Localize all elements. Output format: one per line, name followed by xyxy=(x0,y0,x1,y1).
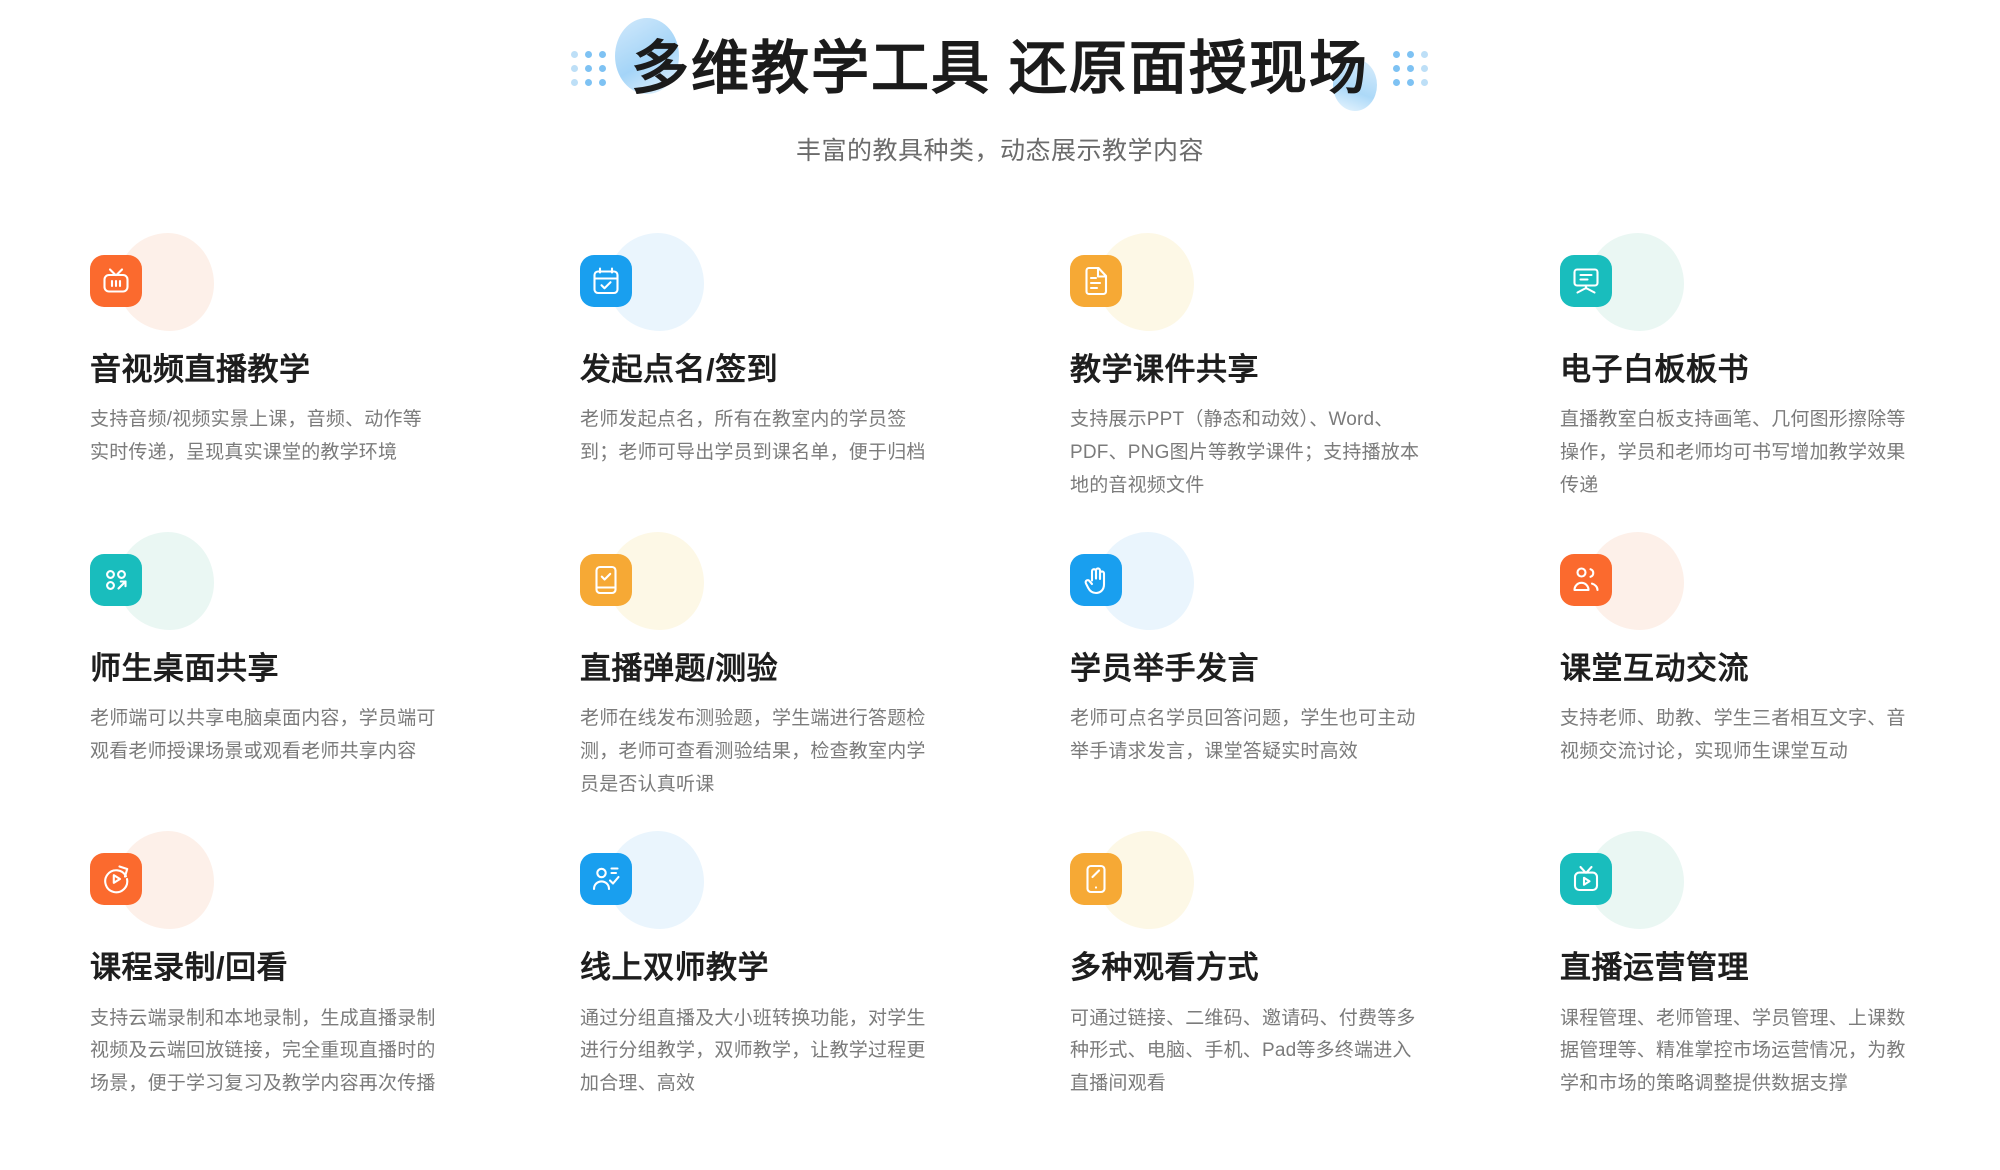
feature-icon-zone xyxy=(1070,554,1450,634)
feature-title: 直播弹题/测验 xyxy=(580,650,960,687)
people-group-icon xyxy=(1560,554,1612,606)
quiz-tablet-icon xyxy=(580,554,632,606)
feature-card[interactable]: 线上双师教学通过分组直播及大小班转换功能，对学生进行分组教学，双师教学，让教学过… xyxy=(580,853,960,1100)
tv-broadcast-icon xyxy=(90,255,142,307)
feature-description: 支持云端录制和本地录制，生成直播录制视频及云端回放链接，完全重现直播时的场景，便… xyxy=(90,1003,440,1101)
feature-title: 音视频直播教学 xyxy=(90,351,470,388)
feature-title: 教学课件共享 xyxy=(1070,351,1450,388)
feature-grid: 音视频直播教学支持音频/视频实景上课，音频、动作等实时传递，呈现真实课堂的教学环… xyxy=(90,255,1920,1101)
feature-title: 直播运营管理 xyxy=(1560,949,1940,986)
feature-title: 发起点名/签到 xyxy=(580,351,960,388)
feature-icon-zone xyxy=(1560,255,1940,335)
decorative-dots-right xyxy=(1393,51,1429,87)
feature-icon-zone xyxy=(1560,853,1940,933)
feature-description: 直播教室白板支持画笔、几何图形擦除等操作，学员和老师均可书写增加教学效果传递 xyxy=(1560,404,1910,502)
feature-icon-zone xyxy=(90,853,470,933)
feature-title: 线上双师教学 xyxy=(580,949,960,986)
feature-icon-zone xyxy=(90,554,470,634)
feature-description: 老师端可以共享电脑桌面内容，学员端可观看老师授课场景或观看老师共享内容 xyxy=(90,703,440,768)
feature-title: 学员举手发言 xyxy=(1070,650,1450,687)
feature-card[interactable]: 课程录制/回看支持云端录制和本地录制，生成直播录制视频及云端回放链接，完全重现直… xyxy=(90,853,470,1100)
feature-description: 支持老师、助教、学生三者相互文字、音视频交流讨论，实现师生课堂互动 xyxy=(1560,703,1910,768)
feature-description: 老师在线发布测验题，学生端进行答题检测，老师可查看测验结果，检查教室内学员是否认… xyxy=(580,703,930,801)
feature-card[interactable]: 学员举手发言老师可点名学员回答问题，学生也可主动举手请求发言，课堂答疑实时高效 xyxy=(1070,554,1450,801)
decorative-dots-left xyxy=(571,51,607,87)
feature-title: 多种观看方式 xyxy=(1070,949,1450,986)
feature-title: 课堂互动交流 xyxy=(1560,650,1940,687)
document-lines-icon xyxy=(1070,255,1122,307)
feature-description: 老师可点名学员回答问题，学生也可主动举手请求发言，课堂答疑实时高效 xyxy=(1070,703,1420,768)
mobile-device-icon xyxy=(1070,853,1122,905)
live-tv-icon xyxy=(1560,853,1612,905)
page-subtitle: 丰富的教具种类，动态展示教学内容 xyxy=(0,131,2000,167)
feature-icon-zone xyxy=(580,853,960,933)
feature-title: 师生桌面共享 xyxy=(90,650,470,687)
feature-icon-zone xyxy=(1070,853,1450,933)
screen-share-icon xyxy=(90,554,142,606)
raise-hand-icon xyxy=(1070,554,1122,606)
feature-card[interactable]: 课堂互动交流支持老师、助教、学生三者相互文字、音视频交流讨论，实现师生课堂互动 xyxy=(1560,554,1940,801)
page-title: 多维教学工具 还原面授现场 xyxy=(631,34,1369,105)
feature-card[interactable]: 师生桌面共享老师端可以共享电脑桌面内容，学员端可观看老师授课场景或观看老师共享内… xyxy=(90,554,470,801)
dual-teacher-icon xyxy=(580,853,632,905)
feature-icon-zone xyxy=(1070,255,1450,335)
calendar-check-icon xyxy=(580,255,632,307)
feature-description: 支持音频/视频实景上课，音频、动作等实时传递，呈现真实课堂的教学环境 xyxy=(90,404,440,469)
feature-card[interactable]: 教学课件共享支持展示PPT（静态和动效）、Word、PDF、PNG图片等教学课件… xyxy=(1070,255,1450,502)
page-header: 多维教学工具 还原面授现场 丰富的教具种类，动态展示教学内容 xyxy=(0,0,2000,167)
feature-description: 可通过链接、二维码、邀请码、付费等多种形式、电脑、手机、Pad等多终端进入直播间… xyxy=(1070,1003,1420,1101)
feature-description: 支持展示PPT（静态和动效）、Word、PDF、PNG图片等教学课件；支持播放本… xyxy=(1070,404,1420,502)
feature-icon-zone xyxy=(580,554,960,634)
feature-title: 课程录制/回看 xyxy=(90,949,470,986)
feature-title: 电子白板板书 xyxy=(1560,351,1940,388)
replay-record-icon xyxy=(90,853,142,905)
feature-card[interactable]: 多种观看方式可通过链接、二维码、邀请码、付费等多种形式、电脑、手机、Pad等多终… xyxy=(1070,853,1450,1100)
feature-description: 通过分组直播及大小班转换功能，对学生进行分组教学，双师教学，让教学过程更加合理、… xyxy=(580,1003,930,1101)
feature-card[interactable]: 直播运营管理课程管理、老师管理、学员管理、上课数据管理等、精准掌控市场运营情况，… xyxy=(1560,853,1940,1100)
feature-icon-zone xyxy=(1560,554,1940,634)
title-wrap: 多维教学工具 还原面授现场 xyxy=(571,34,1429,105)
feature-description: 老师发起点名，所有在教室内的学员签到；老师可导出学员到课名单，便于归档 xyxy=(580,404,930,469)
feature-icon-zone xyxy=(90,255,470,335)
feature-showcase-page: 多维教学工具 还原面授现场 丰富的教具种类，动态展示教学内容 音视频直播教学支持… xyxy=(0,0,2000,1170)
feature-card[interactable]: 发起点名/签到老师发起点名，所有在教室内的学员签到；老师可导出学员到课名单，便于… xyxy=(580,255,960,502)
whiteboard-icon xyxy=(1560,255,1612,307)
feature-description: 课程管理、老师管理、学员管理、上课数据管理等、精准掌控市场运营情况，为教学和市场… xyxy=(1560,1003,1910,1101)
feature-icon-zone xyxy=(580,255,960,335)
feature-card[interactable]: 直播弹题/测验老师在线发布测验题，学生端进行答题检测，老师可查看测验结果，检查教… xyxy=(580,554,960,801)
feature-card[interactable]: 电子白板板书直播教室白板支持画笔、几何图形擦除等操作，学员和老师均可书写增加教学… xyxy=(1560,255,1940,502)
feature-card[interactable]: 音视频直播教学支持音频/视频实景上课，音频、动作等实时传递，呈现真实课堂的教学环… xyxy=(90,255,470,502)
